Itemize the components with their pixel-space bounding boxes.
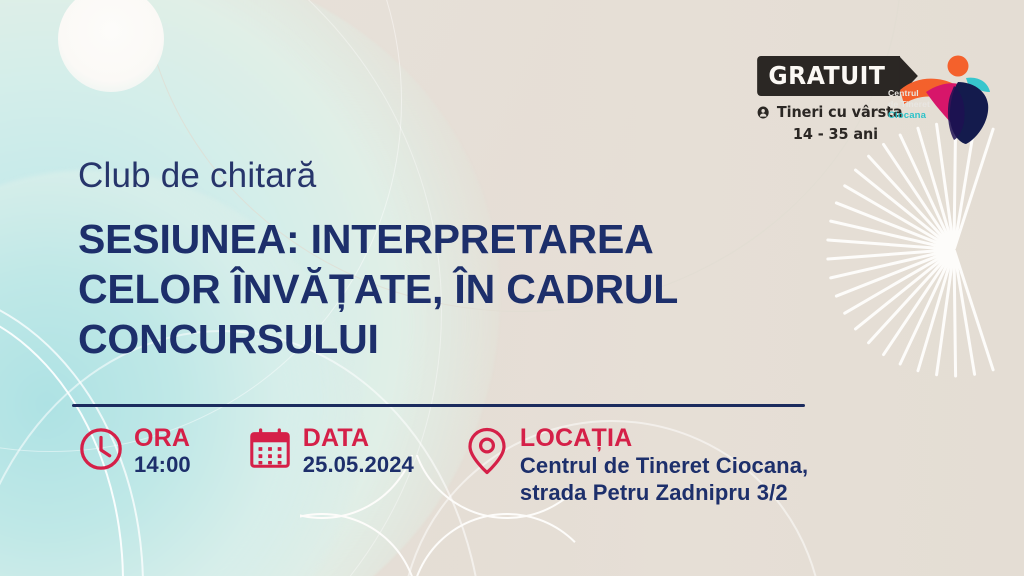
event-location-value-line-1: Centrul de Tineret Ciocana,: [520, 453, 808, 480]
event-title-line-3: CONCURSULUI: [78, 314, 798, 364]
logo-text-line-2: de Tineret: [888, 99, 930, 110]
event-title-line-1: SESIUNEA: INTERPRETAREA: [78, 214, 798, 264]
event-time-value: 14:00: [134, 453, 191, 478]
calendar-icon: [247, 426, 293, 477]
event-location-value-line-2: strada Petru Zadnipru 3/2: [520, 480, 808, 507]
horizontal-divider: [72, 404, 805, 407]
organization-logo: Centrul de Tineret Ciocana: [886, 52, 1004, 148]
event-title: SESIUNEA: INTERPRETAREA CELOR ÎNVĂȚATE, …: [78, 214, 798, 364]
event-subtitle: Club de chitară: [78, 157, 316, 196]
event-date-item: DATA 25.05.2024: [247, 424, 414, 478]
event-date-text: DATA 25.05.2024: [303, 424, 414, 478]
event-location-item: LOCAȚIA Centrul de Tineret Ciocana, stra…: [464, 424, 808, 507]
event-location-label: LOCAȚIA: [520, 424, 808, 452]
age-range-line-1: Tineri cu vârsta: [757, 103, 878, 124]
event-date-label: DATA: [303, 424, 414, 452]
event-location-value: Centrul de Tineret Ciocana, strada Petru…: [520, 453, 808, 507]
event-time-text: ORA 14:00: [134, 424, 191, 478]
free-badge-group: GRATUIT Tineri cu vârsta 14 - 35 ani: [748, 56, 878, 144]
event-details-row: ORA 14:00: [78, 424, 808, 507]
event-poster: GRATUIT Tineri cu vârsta 14 - 35 ani: [0, 0, 1024, 576]
event-time-label: ORA: [134, 424, 191, 452]
event-date-value: 25.05.2024: [303, 453, 414, 478]
map-pin-icon: [464, 426, 510, 481]
logo-wordmark: Centrul de Tineret Ciocana: [888, 88, 930, 122]
clock-icon: [78, 426, 124, 477]
event-title-line-2: CELOR ÎNVĂȚATE, ÎN CADRUL: [78, 264, 798, 314]
logo-text-line-3: Ciocana: [888, 110, 930, 122]
person-icon: [757, 105, 769, 124]
event-location-text: LOCAȚIA Centrul de Tineret Ciocana, stra…: [520, 424, 808, 507]
event-time-item: ORA 14:00: [78, 424, 191, 478]
age-range-line-2: 14 - 35 ani: [757, 125, 878, 144]
age-range-text-1: Tineri cu vârsta: [777, 103, 903, 121]
logo-text-line-1: Centrul: [888, 88, 930, 99]
free-badge: GRATUIT: [757, 56, 900, 96]
